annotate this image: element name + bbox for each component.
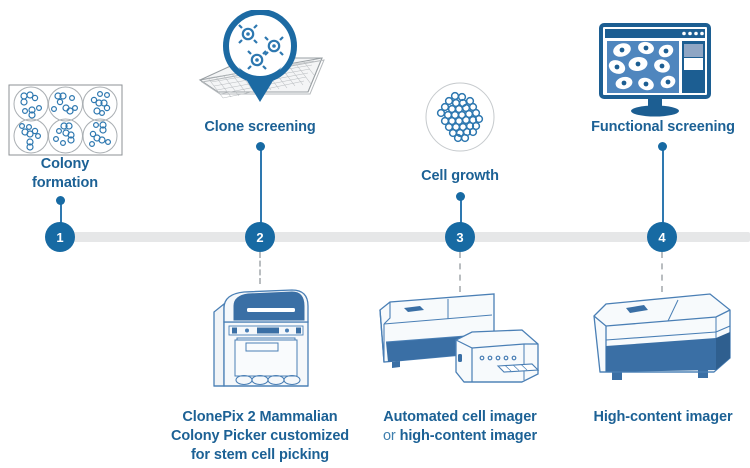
step-3-node[interactable]: 3 [445,222,475,252]
step-3-label-line-1: Cell growth [385,167,535,186]
step-3-number: 3 [456,230,463,245]
step-4-label: Functional screening [578,118,748,137]
step-3-caption-line-2: or high-content imager [372,427,548,446]
step-4-dashed-connector [661,252,663,292]
step-1-node[interactable]: 1 [45,222,75,252]
step-1-label: Colony formation [0,155,130,192]
step-1-number: 1 [56,230,63,245]
step-3-label: Cell growth [385,167,535,186]
monitor-cells-icon [598,22,712,118]
step-2-caption-line-1: ClonePix 2 Mammalian [165,408,355,427]
clonepix-instrument [204,282,322,394]
microplate-wells-icon [8,84,123,156]
step-2-dashed-connector [259,252,261,284]
step-2-caption-line-2: Colony Picker customized [165,427,355,446]
step-4-caption-line-1: High-content imager [578,408,748,427]
step-4-label-line-1: Functional screening [578,118,748,137]
cell-imager-instrument [372,288,548,396]
high-content-imager-instrument [586,288,738,394]
workflow-diagram: Colony formation 1 [0,0,750,468]
step-2-number: 2 [256,230,263,245]
step-1-label-line-2: formation [0,174,130,193]
step-4-node[interactable]: 4 [647,222,677,252]
step-2-stem-dot [256,142,265,151]
step-1-label-line-1: Colony [0,155,130,174]
colony-picker-pin-icon [190,10,330,115]
step-4-stem-dot [658,142,667,151]
step-3-caption-line-2-text: high-content imager [400,428,537,444]
step-4-caption: High-content imager [578,408,748,427]
step-3-caption-line-1: Automated cell imager [372,408,548,427]
step-1-stem-dot [56,196,65,205]
step-3-dashed-connector [459,252,461,292]
step-4-number: 4 [658,230,665,245]
step-2-label-line-1: Clone screening [180,118,340,137]
step-2-caption: ClonePix 2 Mammalian Colony Picker custo… [165,408,355,465]
step-3-caption: Automated cell imager or high-content im… [372,408,548,446]
step-3-caption-or: or [383,428,396,444]
step-2-label: Clone screening [180,118,340,137]
cell-cluster-icon [425,82,495,152]
step-2-node[interactable]: 2 [245,222,275,252]
step-3-stem-dot [456,192,465,201]
step-2-caption-line-3: for stem cell picking [165,446,355,465]
